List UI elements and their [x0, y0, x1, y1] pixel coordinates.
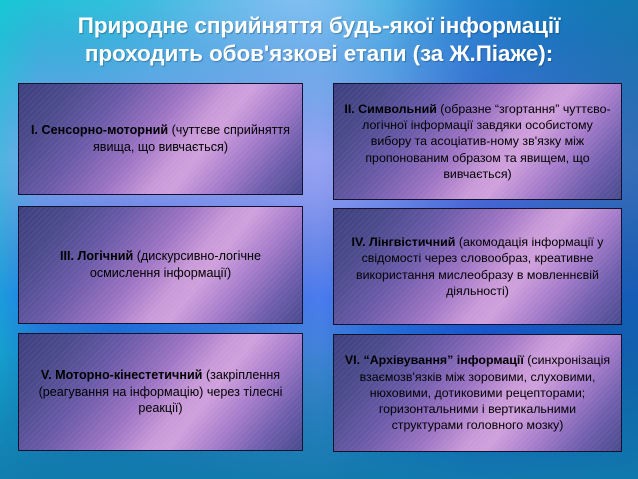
- stage-box-6-heading: VI.: [345, 353, 360, 367]
- stage-box-1-heading: I.: [31, 123, 38, 137]
- stage-box-1-heading-name: Сенсорно-моторний: [42, 123, 169, 137]
- stage-box-6[interactable]: VI. “Архівування” інформації (синхроніза…: [333, 334, 622, 452]
- stage-box-3-heading: III.: [60, 249, 74, 263]
- stage-box-2-text: II. Символьний (образне “згортання” чутт…: [334, 99, 621, 184]
- slide-title: Природне сприйняття будь-якої інформації…: [0, 12, 638, 68]
- stage-box-4-heading-name: Лінгвістичний: [369, 235, 455, 249]
- stage-box-1-text: I. Сенсорно-моторний (чуттєве сприйняття…: [19, 120, 302, 157]
- stage-box-6-heading-name: “Архівування” інформації: [364, 353, 524, 367]
- slide-canvas: Природне сприйняття будь-якої інформації…: [0, 0, 638, 479]
- stage-box-5[interactable]: V. Моторно-кінестетичний (закріплення (р…: [18, 333, 303, 451]
- stage-box-3[interactable]: III. Логічний (дискурсивно-логічне осмис…: [18, 206, 303, 324]
- stage-box-5-heading-name: Моторно-кінестетичний: [55, 368, 202, 382]
- stage-box-4-heading: IV.: [352, 235, 366, 249]
- slide-title-line-1: Природне сприйняття будь-якої інформації: [0, 12, 638, 40]
- stage-box-3-text: III. Логічний (дискурсивно-логічне осмис…: [19, 246, 302, 283]
- stage-box-3-heading-name: Логічний: [78, 249, 134, 263]
- stage-box-4[interactable]: IV. Лінгвістичний (акомодація інформації…: [333, 208, 622, 325]
- stage-box-1[interactable]: I. Сенсорно-моторний (чуттєве сприйняття…: [18, 83, 303, 195]
- slide-title-line-2: проходить обов'язкові етапи (за Ж.Піаже)…: [0, 40, 638, 68]
- stage-box-2[interactable]: II. Символьний (образне “згортання” чутт…: [333, 83, 622, 200]
- stage-box-2-heading: II.: [344, 102, 354, 116]
- stage-box-4-text: IV. Лінгвістичний (акомодація інформації…: [334, 232, 621, 301]
- stage-box-5-heading: V.: [41, 368, 52, 382]
- stage-box-5-text: V. Моторно-кінестетичний (закріплення (р…: [19, 365, 302, 419]
- stage-box-2-heading-name: Символьний: [358, 102, 437, 116]
- stage-box-6-text: VI. “Архівування” інформації (синхроніза…: [334, 350, 621, 435]
